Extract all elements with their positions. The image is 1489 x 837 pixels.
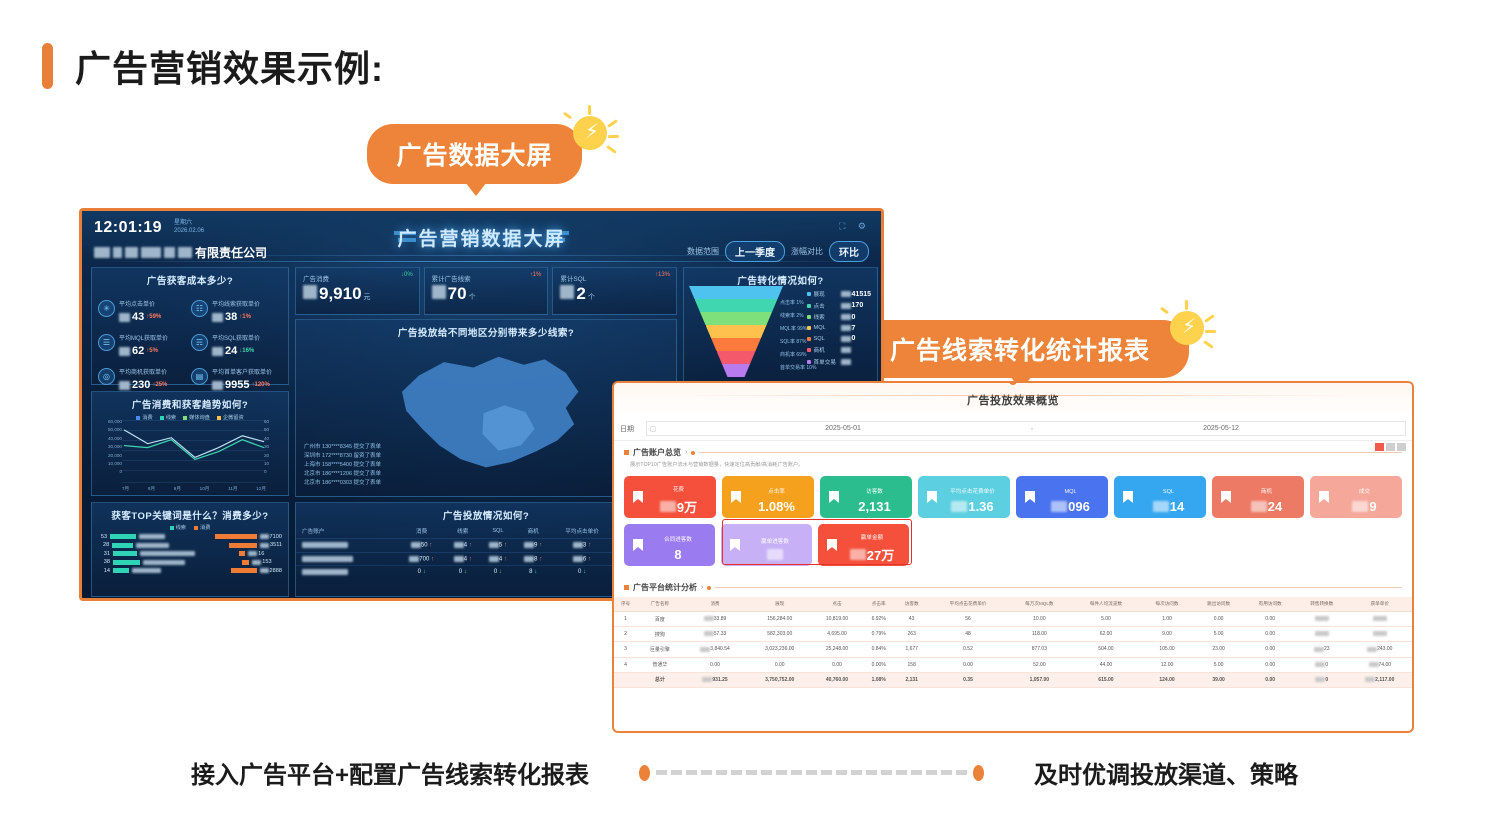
kpi-delta: ↑5% [146,345,158,357]
funnel-pct: 商机率 69% [780,351,806,358]
legend-name: 点击 [814,302,838,310]
click-icon: ✳ [98,300,115,317]
panel-spend-trend-title: 广告消费和获客趋势如何? [92,392,288,411]
analysis-col-header: 有用访问数 [1244,597,1296,612]
keyword-name [140,551,236,556]
kpi-value: 24↓16% [212,345,260,357]
analysis-total-cell [614,672,637,687]
analysis-cell: 44.00 [1071,657,1142,672]
analysis-row: 4普通华0.000.000.000.00%1580.0052.0044.0012… [614,657,1412,672]
kpi-delta: ↑59% [146,311,161,323]
analysis-total-cell: 124.00 [1141,672,1193,687]
analysis-cell: 3 [614,642,637,657]
analysis-col-header: 每件人均流览数 [1071,597,1142,612]
trend-y-axis-left: 60,00050,00040,00030,00020,00010,0000 [96,418,122,477]
section-overview-header: 广告账户总览 › [614,441,1412,458]
report-header: 广告投放效果概览 [614,383,1412,417]
analysis-col-header: 点击 [812,597,862,612]
analysis-col-header: 跳出访问数 [1193,597,1245,612]
keyword-spend: 16 [248,551,264,557]
y-tick: 20,000 [96,452,122,460]
dash [866,770,877,775]
analysis-cell [1348,627,1412,642]
date-label: 日期 [620,424,646,434]
panel-conversion-funnel-title: 广告转化情况如何? [684,268,877,287]
account-name [296,539,398,553]
analysis-total-cell: 3,750,752.00 [748,672,812,687]
analysis-row: 1百度33.89156,284.0010,819.006.92%435610.0… [614,612,1412,627]
x-tick: 8月 [148,486,155,492]
cell: 9 ↑ [516,539,551,553]
card-label: 商机 [1261,489,1272,495]
deal-icon: ▤ [191,368,208,385]
metric-value: 2个 [560,284,669,304]
metric-card: ↓0%广告消费9,910元 [295,267,420,315]
analysis-total-row: 总计931.253,750,752.0040,760.001.08%2,1310… [614,672,1412,687]
footer: 接入广告平台+配置广告线索转化报表 及时优调投放渠道、策略 [0,755,1489,790]
badge-report: 广告线索转化统计报表 [851,320,1189,378]
kpi-value: 62↑5% [119,345,168,357]
more-button[interactable] [1397,443,1406,451]
metric-delta: ↓0% [401,272,413,278]
analysis-cell: 263 [895,627,928,642]
leads-bar [113,568,129,573]
dash [806,770,817,775]
spend-bar [242,560,249,565]
kpi-item: ☷平均线索获取单价38↑1% [191,293,282,323]
analysis-col-header: 每次访问数 [1141,597,1193,612]
metric-unit: 个 [588,292,595,302]
analysis-cell: 52.00 [1008,657,1071,672]
keyword-leads: 31 [98,551,110,557]
y-tick: 50,000 [96,426,122,434]
legend-value: 0 [841,314,856,321]
card-value: 2,131 [845,499,904,514]
dash [941,770,952,775]
analysis-cell: 0.00 [683,657,748,672]
legend-value: 41515 [841,291,871,298]
date-end[interactable]: 2025-05-12 [1037,425,1405,432]
dash [716,770,727,775]
dash [881,770,892,775]
analysis-cell: 105.00 [1141,642,1193,657]
report-toolbar[interactable] [1375,443,1406,451]
sql-icon: ☴ [191,334,208,351]
analysis-cell: 0.00 [1244,627,1296,642]
dash [821,770,832,775]
analysis-cell: 0.00 [1244,657,1296,672]
metric-card: ↑13%累计SQL2个 [552,267,677,315]
metric-value: 9,910元 [303,284,412,304]
analysis-cell: 48 [928,627,1008,642]
funnel-segment [689,286,783,299]
kpi-label: 平均MQL获取单价 [119,336,168,342]
funnel-legend-row: MQL7 [807,325,871,332]
analysis-total-cell: 2,131 [895,672,928,687]
legend-name: 展现 [814,290,838,298]
funnel-pct: SQL率 87% [780,338,806,345]
dash [911,770,922,775]
legend-name: SQL [814,336,838,342]
analysis-col-header: 平均点击花费单价 [928,597,1008,612]
analysis-col-header: 获单单价 [1348,597,1412,612]
dash [686,770,697,775]
analysis-row: 3巨量引擎3,840.543,023,236.0025,248.000.84%1… [614,642,1412,657]
ad-effect-report: 广告投放效果概览 日期 ▢ 2025-05-01 - 2025-05-12 广告… [612,381,1414,733]
kpi-item: ✳平均点击单价43↑59% [98,293,189,323]
overview-cards-row2: 合同进客数8赢单进客数赢单金额27万 [614,518,1412,566]
analysis-col-header: 序号 [614,597,637,612]
legend-value [841,359,851,365]
analysis-col-header: 展现 [748,597,812,612]
range-select[interactable]: 上一季度 [725,241,785,262]
y-tick-right: 30 [264,443,284,451]
analysis-cell: 118.00 [1008,627,1071,642]
analysis-cell: 23.00 [1193,642,1245,657]
y-tick: 30,000 [96,443,122,451]
overview-card[interactable]: 平均点击花费单价1.36 [918,476,1010,518]
bookmark-icon [926,490,938,504]
y-tick-right: 20 [264,452,284,460]
cell: 0 ↓ [551,566,614,579]
analysis-cell: 582,303.00 [748,627,812,642]
analysis-row: 2搜狗57.33582,303.004,695.000.79%26348118.… [614,627,1412,642]
trend-lines [122,418,266,475]
funnel-legend-row: 线索0 [807,313,871,321]
kpi-value: 43↑59% [119,311,161,323]
keyword-spend: 2888 [260,568,282,574]
card-value: 9万 [649,497,708,516]
section-marker-2 [624,585,629,590]
leads-bar [113,560,140,565]
calendar-icon: ▢ [647,425,659,433]
keyword-legend-item: 消费 [194,524,210,531]
lead-feed-item: 深圳市 172****8730 留资了表单 [304,452,381,461]
analysis-cell: 0.00% [862,657,895,672]
dash [926,770,937,775]
analysis-cell: 5.00 [1193,657,1245,672]
analysis-total-cell: 0 [1296,672,1348,687]
chevron-right-icon[interactable]: › [685,449,687,456]
analysis-total-cell: 40,760.00 [812,672,862,687]
footer-right-text: 及时优调投放渠道、策略 [1034,755,1298,790]
leads-bar [112,543,133,548]
kpi-delta: ↓16% [239,345,254,357]
x-tick: 10月 [200,486,210,492]
spend-bar [239,551,245,556]
kpi-value: 230↑25% [119,379,167,391]
sparkle-bulb-icon: ⚡ [563,108,619,164]
card-label: 访客数 [866,489,883,495]
overview-card[interactable]: 点击率1.08% [722,476,814,518]
analysis-cell: 4 [614,657,637,672]
spend-bar [215,534,256,539]
y-tick: 10,000 [96,460,122,468]
keyword-name [136,543,226,548]
card-label: 点击率 [768,489,785,495]
analysis-total-cell: 39.00 [1193,672,1245,687]
card-label: SQL [1163,489,1174,495]
date-start[interactable]: 2025-05-01 [659,425,1027,432]
kpi-grid: ✳平均点击单价43↑59%☷平均线索获取单价38↑1%☰平均MQL获取单价62↑… [92,287,288,391]
overview-card[interactable]: SQL14 [1114,476,1206,518]
analysis-cell: 0.79% [862,627,895,642]
kpi-delta: ↑120% [251,379,269,391]
analysis-cell: 3,840.54 [683,642,748,657]
slide-canvas: 广告营销效果示例: 广告数据大屏 ⚡ 广告线索转化统计报表 ⚡ 12:01:19… [0,0,1489,837]
dash [836,770,847,775]
col-header: SQL [480,524,515,539]
analysis-total-cell: 总计 [637,672,682,687]
analysis-cell: 搜狗 [637,627,682,642]
analysis-cell: 57.33 [683,627,748,642]
x-tick: 12月 [256,486,266,492]
analysis-cell [1296,627,1348,642]
analysis-cell: 5.00 [1071,612,1142,627]
lead-feed-list: 广州市 130****8345 提交了表单深圳市 172****8730 留资了… [304,443,381,488]
account-name [296,552,398,566]
page-title-text: 广告营销效果示例: [75,40,384,92]
analysis-total-cell: 931.25 [683,672,748,687]
kpi-item: ☰平均MQL获取单价62↑5% [98,327,189,357]
analysis-total-cell: 0.35 [928,672,1008,687]
card-value: 9 [1335,499,1394,514]
mql-icon: ☰ [98,334,115,351]
card-value: 1.08% [747,499,806,514]
analysis-table-body: 1百度33.89156,284.0010,819.006.92%435610.0… [614,612,1412,688]
analysis-cell: 巨量引擎 [637,642,682,657]
export-button[interactable] [1375,443,1384,451]
analysis-cell: 504.00 [1071,642,1142,657]
analysis-cell: 25,248.00 [812,642,862,657]
spend-bar [229,543,257,548]
section-marker [624,450,629,455]
dashboard-metric-cards: ↓0%广告消费9,910元↑1%累计广告线索70个↑13%累计SQL2个 [295,267,677,315]
analysis-cell: 0.84% [862,642,895,657]
trend-x-axis: 7月8月9月10月11月12月 [122,486,266,492]
funnel-segment [722,364,750,377]
col-header: 消费 [398,524,445,539]
section-analysis-header: 广告平台统计分析 › [614,576,1412,593]
chevron-right-icon-2[interactable]: › [701,584,703,591]
legend-name: MQL [814,325,838,331]
analysis-cell: 6.92% [862,612,895,627]
analysis-total-cell: 0.00 [1244,672,1296,687]
funnel-segment [706,325,767,338]
dash [671,770,682,775]
spend-bar [231,568,256,573]
panel-top-keywords-title: 获客TOP关键词是什么？消费多少? [92,503,288,522]
keyword-row: 38153 [92,559,288,565]
account-name [296,566,398,579]
card-value: 096 [1041,499,1100,514]
legend-value: 0 [841,335,856,342]
cell: 0 ↓ [398,566,445,579]
analysis-cell: 62.00 [1071,627,1142,642]
analysis-cell: 43 [895,612,928,627]
metric-label: 累计广告线索 [432,273,541,283]
analysis-col-header: 点击率 [862,597,895,612]
bookmark-icon [1024,490,1036,504]
y-tick: 40,000 [96,435,122,443]
panel-acquisition-cost: 广告获客成本多少? ✳平均点击单价43↑59%☷平均线索获取单价38↑1%☰平均… [91,267,289,385]
compare-select[interactable]: 环比 [829,241,869,262]
funnel-segment [711,338,761,351]
keyword-spend: 7100 [260,534,282,540]
metric-card: ↑1%累计广告线索70个 [424,267,549,315]
bookmark-icon [1122,490,1134,504]
dash [791,770,802,775]
legend-swatch [807,337,811,341]
col-header: 平均点击单价 [551,524,614,539]
panel-conversion-funnel: 广告转化情况如何? 展现41515点击170线索0MQL7SQL0商机首单交易 … [683,267,878,385]
bookmark-icon [632,538,644,552]
analysis-cell: 10,819.00 [812,612,862,627]
cell: 50 ↑ [398,539,445,553]
analysis-cell: 2 [614,627,637,642]
keyword-leads: 53 [98,534,107,540]
highlight-box [722,519,912,565]
section-divider [699,452,1402,453]
card-value: 14 [1139,499,1198,514]
analysis-cell: 33.89 [683,612,748,627]
dash [656,770,667,775]
bookmark-icon [632,490,644,504]
x-tick: 11月 [228,486,237,492]
kpi-label: 平均首单客户获取单价 [212,370,272,376]
funnel-legend-row: 点击170 [807,302,871,310]
funnel-legend-row: 展现41515 [807,290,871,298]
analysis-cell: 243.00 [1348,642,1412,657]
section-dot-2 [707,586,711,590]
analysis-cell: 1,677 [895,642,928,657]
analysis-cell: 普通华 [637,657,682,672]
dash [701,770,712,775]
spacer [915,524,1402,566]
legend-value: 7 [841,325,856,332]
date-filter-row: 日期 ▢ 2025-05-01 - 2025-05-12 [614,417,1412,441]
kpi-label: 平均点击单价 [119,302,155,308]
analysis-cell: 0.00 [928,657,1008,672]
y-tick: 0 [96,468,122,476]
y-tick-right: 50 [264,426,284,434]
dash [746,770,757,775]
cell: 3 ↑ [551,539,614,553]
fullscreen-icon[interactable]: ⛶ ⚙ [839,221,871,232]
lead-feed-item: 广州市 130****8345 提交了表单 [304,443,381,452]
keyword-row: 283511 [92,542,288,548]
dash [896,770,907,775]
cell: 6 ↑ [551,552,614,566]
analysis-total-cell: 615.00 [1071,672,1142,687]
analysis-cell: 23 [1296,642,1348,657]
bookmark-icon [1220,490,1232,504]
analysis-cell: 1 [614,612,637,627]
analysis-cell: 0.00 [1244,642,1296,657]
cell: 8 ↓ [516,566,551,579]
legend-name: 商机 [814,346,838,354]
cell: 4 ↑ [480,552,515,566]
keyword-spend: 3511 [260,542,282,548]
analysis-cell: 9.00 [1141,627,1193,642]
funnel-segment [700,312,772,325]
overview-card[interactable]: 合同进客数8 [624,524,715,566]
settings-button[interactable] [1386,443,1395,451]
card-label: 合同进客数 [664,537,692,543]
card-value: 24 [1237,499,1296,514]
overview-card[interactable]: 花费9万 [624,476,716,518]
bookmark-icon [828,490,840,504]
overview-card[interactable]: 成交9 [1310,476,1402,518]
platform-analysis-table: 序号广告名称消费展现点击点击率访客数平均点击花费单价每万次MQL数每件人均流览数… [614,597,1412,688]
keyword-row: 3116 [92,551,288,557]
leads-bar [113,551,137,556]
overview-cards-row1: 花费9万点击率1.08%访客数2,131平均点击花费单价1.36MQL096SQ… [614,468,1412,518]
analysis-header-row: 序号广告名称消费展现点击点击率访客数平均点击花费单价每万次MQL数每件人均流览数… [614,597,1412,612]
analysis-cell: 56 [928,612,1008,627]
metric-delta: ↑13% [655,272,670,278]
analysis-cell: 3,023,236.00 [748,642,812,657]
card-label: 花费 [673,487,684,493]
analysis-col-header: 广告名称 [637,597,682,612]
kpi-delta: ↑1% [239,311,251,323]
date-separator: - [1027,424,1037,433]
col-header: 商机 [516,524,551,539]
funnel-legend: 展现41515点击170线索0MQL7SQL0商机首单交易 [807,290,871,369]
legend-swatch [807,292,811,296]
overview-card[interactable]: MQL096 [1016,476,1108,518]
keyword-leads: 38 [98,559,110,565]
analysis-col-header: 转售转换数 [1296,597,1348,612]
overview-card[interactable]: 商机24 [1212,476,1304,518]
card-value: 8 [649,547,707,562]
funnel-pct: 首单交易率 10% [780,364,816,371]
section-overview-subtitle: 展示TOP10广告账户流水与营销数据量，快速定位高贡献/高消耗广告账户。 [614,458,1412,468]
analysis-cell: 4,695.00 [812,627,862,642]
cell: 0 ↓ [480,566,515,579]
keyword-name [139,534,212,539]
legend-value [841,347,851,353]
funnel-legend-row: 商机 [807,346,871,354]
y-tick-right: 0 [264,468,284,476]
analysis-cell: 0.00 [1193,612,1245,627]
kpi-item: ◎平均商机获取单价230↑25% [98,361,189,391]
title-accent-bar [42,43,53,89]
keyword-row: 142888 [92,568,288,574]
analysis-cell [1296,612,1348,627]
analysis-cell: 158 [895,657,928,672]
section-analysis-title: 广告平台统计分析 [633,582,697,593]
y-tick-right: 10 [264,460,284,468]
page-title: 广告营销效果示例: [42,40,384,92]
analysis-total-cell: 2,117.00 [1348,672,1412,687]
lead-icon: ☷ [191,300,208,317]
badge-report-label: 广告线索转化统计报表 [890,331,1150,367]
metric-value: 70个 [432,284,541,304]
connector-dot-right [973,765,984,781]
keyword-name [132,568,228,573]
connector-dashes [656,770,967,775]
analysis-cell: 0.00 [1244,612,1296,627]
dash [776,770,787,775]
analysis-cell: 0.00 [748,657,812,672]
overview-card[interactable]: 访客数2,131 [820,476,912,518]
x-tick: 7月 [122,486,129,492]
legend-swatch [807,348,811,352]
analysis-cell [1348,612,1412,627]
date-range-picker[interactable]: ▢ 2025-05-01 - 2025-05-12 [646,421,1406,436]
cell: 4 ↑ [445,539,480,553]
